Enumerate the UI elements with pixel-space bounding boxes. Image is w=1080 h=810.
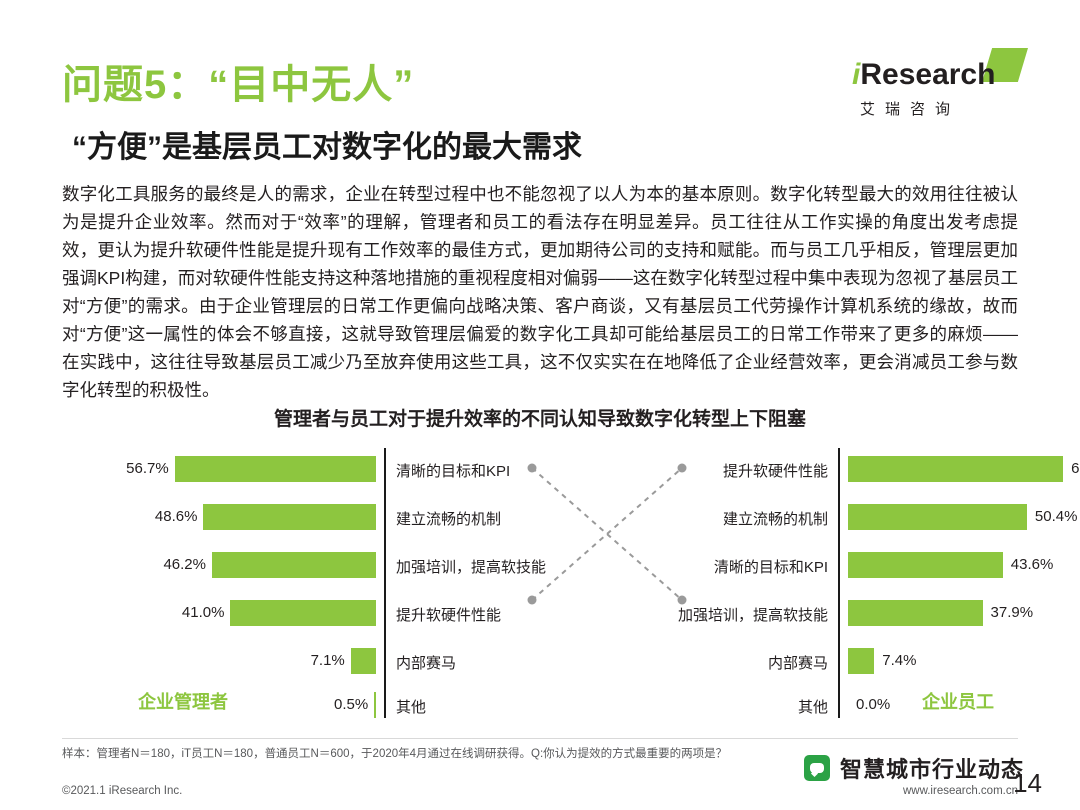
chart-area: 56.7%清晰的目标和KPI48.6%建立流畅的机制46.2%加强培训，提高软技…: [62, 440, 1018, 730]
body-paragraph: 数字化工具服务的最终是人的需求，企业在转型过程中也不能忽视了以人为本的基本原则。…: [62, 180, 1018, 404]
website-url: www.iresearch.com.cn: [903, 785, 1018, 797]
bar-category-label: 清晰的目标和KPI: [396, 460, 510, 481]
bar-category-label: 提升软硬件性能: [396, 604, 501, 625]
footnote: 样本：管理者N＝180，iT员工N＝180，普通员工N＝600，于2020年4月…: [62, 745, 727, 761]
bar-category-label: 清晰的目标和KPI: [714, 556, 828, 577]
bar-category-label: 加强培训，提高软技能: [396, 556, 546, 577]
bar-manager-3: [230, 600, 376, 626]
bar-value-label: 0.5%: [312, 696, 368, 713]
logo-chinese-text: 艾瑞咨询: [860, 98, 960, 119]
bar-value-label: 0.0%: [856, 696, 890, 713]
bar-category-label: 建立流畅的机制: [723, 508, 828, 529]
logo-wordmark: iResearch: [852, 58, 995, 92]
bar-manager-1: [203, 504, 376, 530]
bar-manager-4: [351, 648, 376, 674]
chart-title: 管理者与员工对于提升效率的不同认知导致数字化转型上下阻塞: [0, 404, 1080, 431]
page-subtitle: “方便”是基层员工对数字化的最大需求: [72, 122, 582, 166]
footer-divider: [62, 738, 1018, 739]
slide-page: 问题5：“目中无人” “方便”是基层员工对数字化的最大需求 iResearch …: [0, 0, 1080, 810]
bar-manager-5: [374, 692, 376, 718]
wechat-icon: [804, 755, 830, 781]
watermark: 智慧城市行业动态: [804, 752, 1024, 784]
bar-value-label: 46.2%: [150, 556, 206, 573]
group-label-employee: 企业员工: [922, 688, 994, 714]
bar-employee-2: [848, 552, 1003, 578]
bar-category-label: 其他: [396, 696, 426, 717]
bar-employee-1: [848, 504, 1027, 530]
axis-line-right: [838, 448, 840, 718]
bar-category-label: 内部赛马: [768, 652, 828, 673]
bar-employee-3: [848, 600, 983, 626]
bar-value-label: 7.4%: [882, 652, 916, 669]
page-title: 问题5：“目中无人”: [62, 52, 414, 110]
bar-category-label: 加强培训，提高软技能: [678, 604, 828, 625]
bar-value-label: 37.9%: [991, 604, 1034, 621]
copyright-text: ©2021.1 iResearch Inc.: [62, 785, 182, 797]
bar-category-label: 建立流畅的机制: [396, 508, 501, 529]
bar-category-label: 内部赛马: [396, 652, 456, 673]
bar-value-label: 41.0%: [168, 604, 224, 621]
bar-employee-4: [848, 648, 874, 674]
group-label-manager: 企业管理者: [138, 688, 228, 714]
bar-category-label: 提升软硬件性能: [723, 460, 828, 481]
bar-manager-2: [212, 552, 376, 578]
bar-value-label: 43.6%: [1011, 556, 1054, 573]
bar-value-label: 50.4%: [1035, 508, 1078, 525]
connector-lines: [62, 440, 1018, 730]
bar-manager-0: [175, 456, 376, 482]
bar-employee-0: [848, 456, 1063, 482]
bar-value-label: 56.7%: [113, 460, 169, 477]
bar-value-label: 7.1%: [289, 652, 345, 669]
bar-category-label: 其他: [798, 696, 828, 717]
axis-line-left: [384, 448, 386, 718]
iresearch-logo: iResearch 艾瑞咨询: [838, 48, 1028, 120]
watermark-label: 智慧城市行业动态: [840, 752, 1024, 784]
logo-research-text: Research: [860, 58, 995, 91]
bar-value-label: 60.6%: [1071, 460, 1080, 477]
bar-value-label: 48.6%: [141, 508, 197, 525]
